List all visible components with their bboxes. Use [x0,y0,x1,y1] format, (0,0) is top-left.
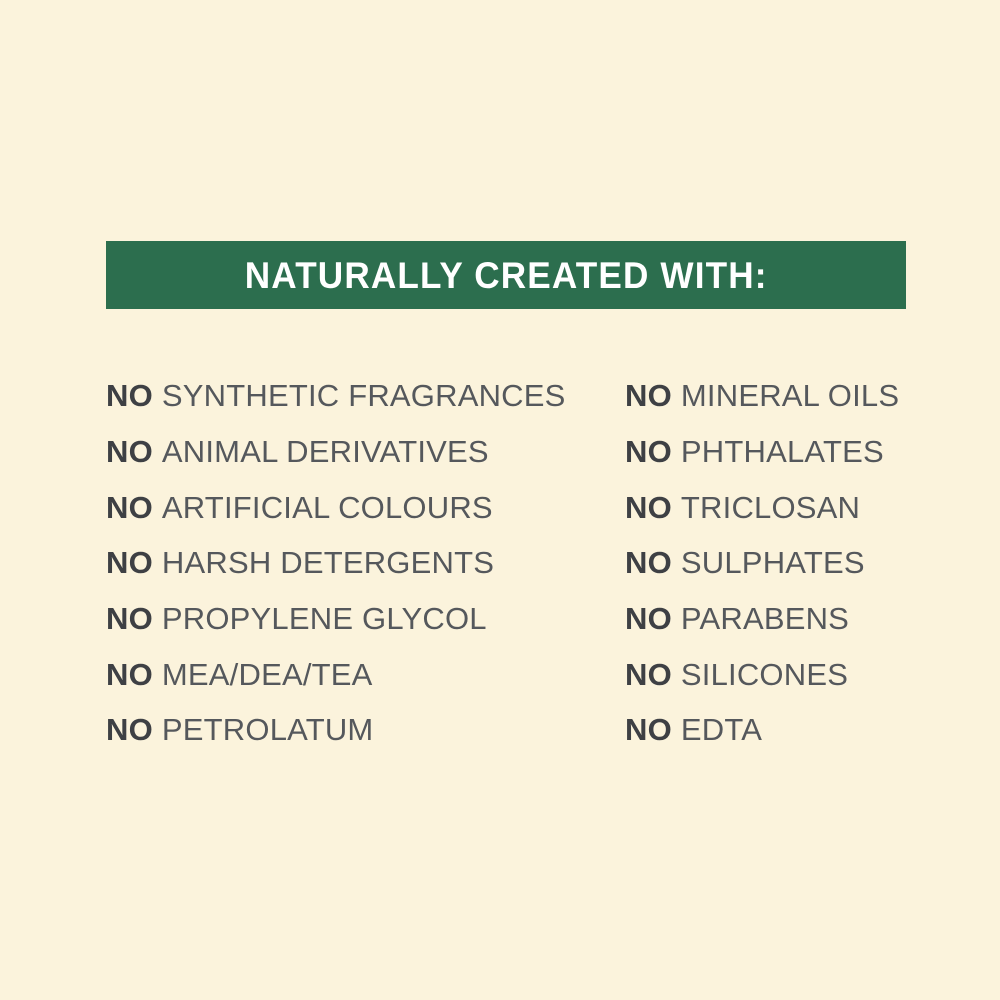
claim-prefix: NO [625,603,672,634]
claim-label: TRICLOSAN [681,492,860,523]
claim-label: SYNTHETIC FRAGRANCES [162,380,566,411]
claim-label: EDTA [681,714,762,745]
claim-prefix: NO [106,714,153,745]
claim-prefix: NO [106,547,153,578]
claim-prefix: NO [625,714,672,745]
claim-row: NO HARSH DETERGENTS [106,535,625,591]
claim-row: NO ARTIFICIAL COLOURS [106,479,625,535]
claim-label: PROPYLENE GLYCOL [162,603,487,634]
claim-label: SULPHATES [681,547,865,578]
claim-prefix: NO [106,436,153,467]
claim-label: MEA/DEA/TEA [162,659,373,690]
banner-title: NATURALLY CREATED WITH: [245,257,768,294]
claims-column-left: NO SYNTHETIC FRAGRANCES NO ANIMAL DERIVA… [106,368,625,758]
claim-row: NO MINERAL OILS [625,368,906,424]
claim-row: NO PROPYLENE GLYCOL [106,591,625,647]
free-from-claims-list: NO SYNTHETIC FRAGRANCES NO ANIMAL DERIVA… [106,368,906,758]
product-claims-graphic: NATURALLY CREATED WITH: NO SYNTHETIC FRA… [0,0,1000,1000]
claims-column-right: NO MINERAL OILS NO PHTHALATES NO TRICLOS… [625,368,906,758]
claim-prefix: NO [106,492,153,523]
claim-label: PHTHALATES [681,436,884,467]
claim-prefix: NO [625,492,672,523]
claim-row: NO TRICLOSAN [625,479,906,535]
claim-row: NO SULPHATES [625,535,906,591]
naturally-created-with-banner: NATURALLY CREATED WITH: [106,241,906,309]
claim-label: ANIMAL DERIVATIVES [162,436,489,467]
claim-prefix: NO [625,659,672,690]
claim-label: PARABENS [681,603,849,634]
claim-label: PETROLATUM [162,714,374,745]
claim-prefix: NO [106,659,153,690]
claim-prefix: NO [106,603,153,634]
claim-row: NO PETROLATUM [106,702,625,758]
claim-label: ARTIFICIAL COLOURS [162,492,493,523]
claim-prefix: NO [106,380,153,411]
claim-row: NO PHTHALATES [625,424,906,480]
claim-row: NO ANIMAL DERIVATIVES [106,424,625,480]
claim-prefix: NO [625,436,672,467]
claim-row: NO PARABENS [625,591,906,647]
claim-row: NO SYNTHETIC FRAGRANCES [106,368,625,424]
claim-row: NO MEA/DEA/TEA [106,646,625,702]
claim-label: SILICONES [681,659,848,690]
claim-prefix: NO [625,380,672,411]
claim-prefix: NO [625,547,672,578]
claim-row: NO SILICONES [625,646,906,702]
claim-label: HARSH DETERGENTS [162,547,494,578]
claim-row: NO EDTA [625,702,906,758]
claim-label: MINERAL OILS [681,380,899,411]
